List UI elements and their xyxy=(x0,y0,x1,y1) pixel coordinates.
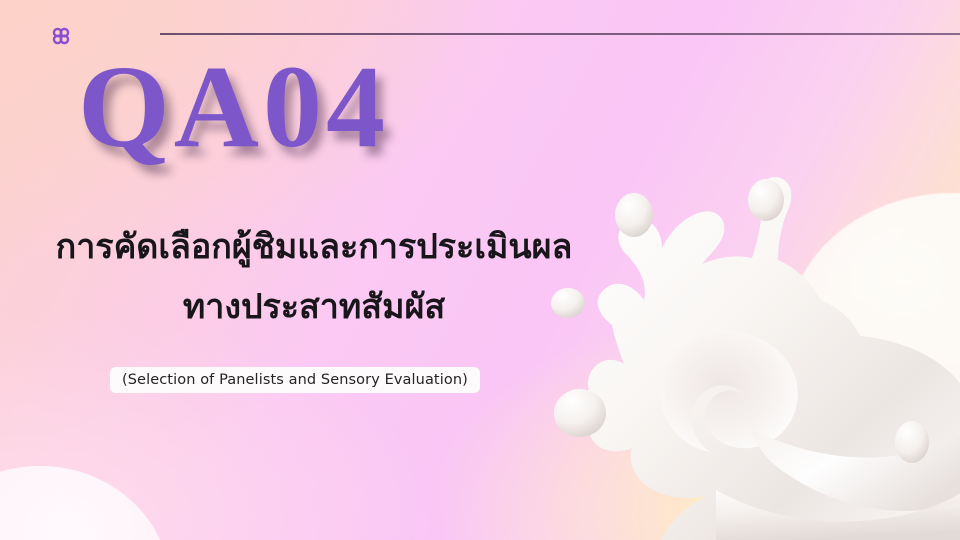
english-subtitle-chip: (Selection of Panelists and Sensory Eval… xyxy=(110,367,480,393)
page-title: QA04 xyxy=(78,48,389,166)
thai-title-line-2: ทางประสาทสัมผัส xyxy=(4,279,624,333)
top-divider-rule xyxy=(160,33,960,35)
english-subtitle-text: (Selection of Panelists and Sensory Eval… xyxy=(122,372,468,388)
flower-icon xyxy=(50,25,72,47)
decorative-circle-left xyxy=(0,466,170,540)
thai-title-line-1: การคัดเลือกผู้ชิมและการประเมินผล xyxy=(4,219,624,273)
presentation-slide: QA04 การคัดเลือกผู้ชิมและการประเมินผล ทา… xyxy=(0,0,960,540)
